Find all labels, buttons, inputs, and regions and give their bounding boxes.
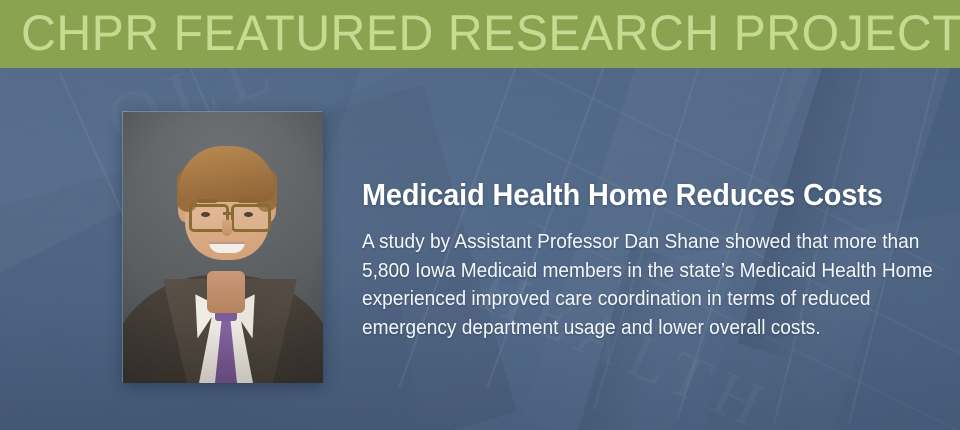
header-bar: CHPR FEATURED RESEARCH PROJECTS — [0, 0, 960, 68]
portrait-frame — [123, 112, 323, 383]
avatar — [123, 112, 323, 383]
feature-text-block: Medicaid Health Home Reduces Costs A stu… — [362, 176, 942, 342]
portrait-vignette — [123, 112, 323, 383]
feature-body-text: A study by Assistant Professor Dan Shane… — [362, 228, 946, 342]
feature-headline: Medicaid Health Home Reduces Costs — [362, 176, 901, 214]
page-title: CHPR FEATURED RESEARCH PROJECTS — [21, 4, 960, 62]
featured-research-banner: OLL HEALTH CHPR FEATURED RESEARCH PROJEC… — [0, 0, 960, 430]
